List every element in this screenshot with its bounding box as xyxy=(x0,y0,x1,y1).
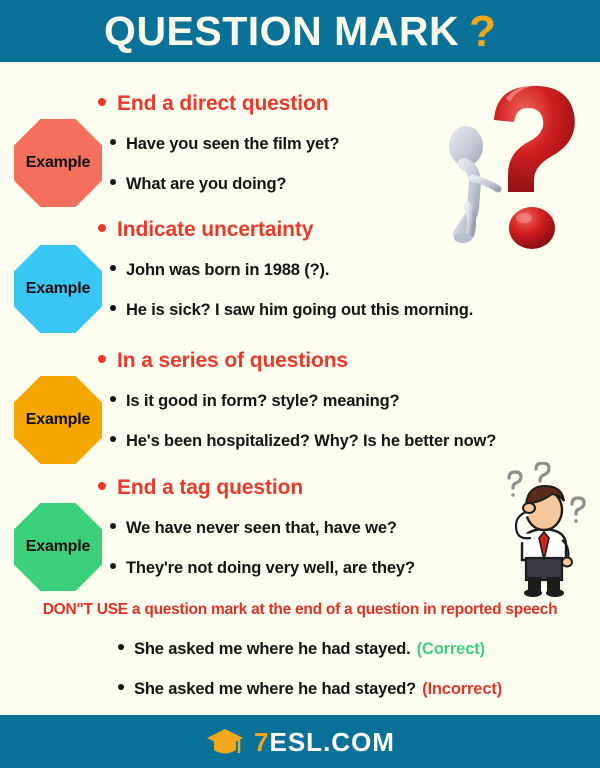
section-heading: In a series of questions xyxy=(98,349,348,373)
example-badge: Example xyxy=(14,245,102,333)
example-item: He is sick? I saw him going out this mor… xyxy=(110,301,473,320)
example-badge-label: Example xyxy=(26,538,90,556)
reported-speech-sentence: She asked me where he had stayed. xyxy=(134,640,411,659)
page-title: QUESTION MARK xyxy=(104,11,459,52)
page-footer: 7ESL.COM xyxy=(0,715,600,768)
example-badge-label: Example xyxy=(26,411,90,429)
section-heading-label: End a direct question xyxy=(117,92,328,116)
example-badge-label: Example xyxy=(26,154,90,172)
example-text: We have never seen that, have we? xyxy=(126,519,397,538)
site-logo: 7ESL.COM xyxy=(254,729,395,755)
reported-speech-sentence: She asked me where he had stayed? xyxy=(134,680,416,699)
section-heading: End a tag question xyxy=(98,476,303,500)
section-heading: Indicate uncertainty xyxy=(98,218,313,242)
example-text: John was born in 1988 (?). xyxy=(126,261,329,280)
bullet-icon xyxy=(110,563,116,569)
bullet-icon xyxy=(98,224,106,232)
section-end-direct-question: Example End a direct question Have you s… xyxy=(0,88,600,206)
reported-speech-item: She asked me where he had stayed. (Corre… xyxy=(118,640,485,659)
bullet-icon xyxy=(98,482,106,490)
example-badge: Example xyxy=(14,503,102,591)
incorrect-tag: (Incorrect) xyxy=(422,680,502,699)
confused-man-illustration xyxy=(492,462,596,598)
example-text: Is it good in form? style? meaning? xyxy=(126,392,399,411)
example-item: What are you doing? xyxy=(110,175,286,194)
bullet-icon xyxy=(118,684,124,690)
bullet-icon xyxy=(110,139,116,145)
example-item: John was born in 1988 (?). xyxy=(110,261,329,280)
example-item: He's been hospitalized? Why? Is he bette… xyxy=(110,432,496,451)
logo-brand: ESL.COM xyxy=(270,727,395,757)
section-heading-label: Indicate uncertainty xyxy=(117,218,313,242)
section-heading-label: In a series of questions xyxy=(117,349,348,373)
logo-seven: 7 xyxy=(254,727,269,757)
example-text: He is sick? I saw him going out this mor… xyxy=(126,301,473,320)
example-text: What are you doing? xyxy=(126,175,286,194)
section-heading: End a direct question xyxy=(98,92,328,116)
bullet-icon xyxy=(118,644,124,650)
graduation-cap-icon xyxy=(205,727,245,757)
example-text: He's been hospitalized? Why? Is he bette… xyxy=(126,432,496,451)
example-text: They're not doing very well, are they? xyxy=(126,559,415,578)
bullet-icon xyxy=(110,265,116,271)
reported-speech-item: She asked me where he had stayed? (Incor… xyxy=(118,680,502,699)
warning-headline: DON"T USE a question mark at the end of … xyxy=(0,601,600,619)
example-item: They're not doing very well, are they? xyxy=(110,559,415,578)
bullet-icon xyxy=(110,436,116,442)
correct-tag: (Correct) xyxy=(417,640,485,659)
example-text: Have you seen the film yet? xyxy=(126,135,339,154)
example-badge: Example xyxy=(14,376,102,464)
bullet-icon xyxy=(110,179,116,185)
page-header: QUESTION MARK ? xyxy=(0,0,600,62)
bullet-icon xyxy=(110,523,116,529)
bullet-icon xyxy=(110,305,116,311)
question-mark-icon: ? xyxy=(469,10,496,54)
example-badge: Example xyxy=(14,119,102,207)
bullet-icon xyxy=(110,396,116,402)
example-item: We have never seen that, have we? xyxy=(110,519,397,538)
example-item: Is it good in form? style? meaning? xyxy=(110,392,399,411)
bullet-icon xyxy=(98,355,106,363)
example-badge-label: Example xyxy=(26,280,90,298)
section-series-of-questions: Example In a series of questions Is it g… xyxy=(0,345,600,463)
infographic-page: QUESTION MARK ? xyxy=(0,0,600,768)
bullet-icon xyxy=(98,98,106,106)
section-heading-label: End a tag question xyxy=(117,476,303,500)
example-item: Have you seen the film yet? xyxy=(110,135,339,154)
section-indicate-uncertainty: Example Indicate uncertainty John was bo… xyxy=(0,214,600,332)
businessman-figure xyxy=(516,486,572,597)
